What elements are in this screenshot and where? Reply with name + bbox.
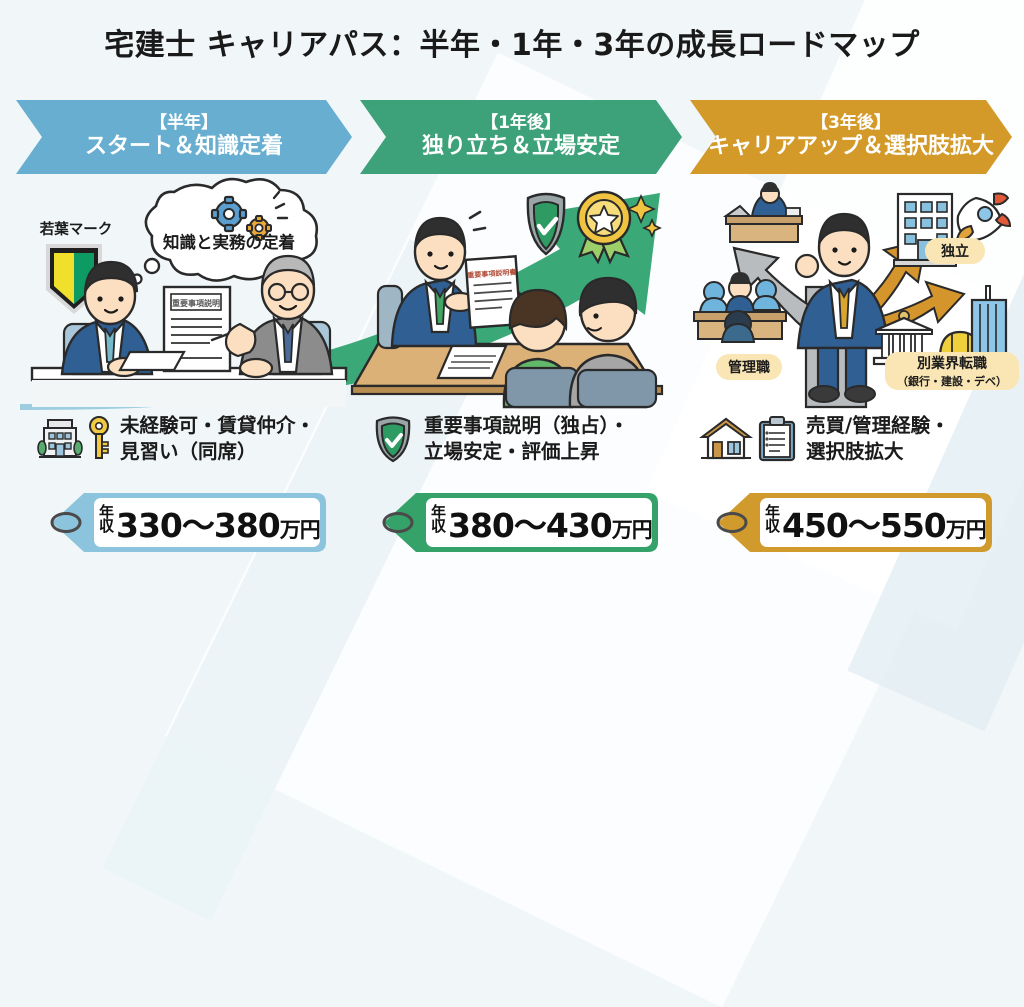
thought-bubble-text: 知識と実務の定着 [163,232,295,252]
sparkle-icon [628,196,660,236]
summary-three-year: 売買/管理経験・ 選択肢拡大 [700,400,1020,478]
salary-prefix: 年収 [764,504,779,542]
shield-check-icon [370,413,416,465]
manager-desk-icon [726,182,802,242]
salary-amount: 330〜380万円 [116,499,320,547]
path-label-text: 管理職 [728,357,770,377]
summary-line-1: 未経験可・賃貸仲介・ [120,413,315,439]
shield-check-icon [528,194,564,254]
manager-meeting-icon [694,272,786,342]
summary-text-three-year: 売買/管理経験・ 選択肢拡大 [806,413,950,464]
house-icon [700,414,752,464]
salary-text: 年収 380〜430万円 [430,491,652,554]
stage-header-three-year[interactable]: 【3年後】 キャリアアップ＆選択肢拡大 [690,100,1012,174]
stage-period-label: 【1年後】 [481,113,561,134]
salary-text: 年収 450〜550万円 [764,491,986,554]
infographic-canvas: 宅建士 キャリアパス：半年・1年・3年の成長ロードマップ 【半年】 スタート＆知… [0,0,1024,572]
path-label-manager: 管理職 [716,354,782,380]
salary-prefix: 年収 [430,504,445,542]
medal-award-icon [578,192,660,262]
rocket-icon [957,194,1010,241]
salary-tag-three-year: 年収 450〜550万円 [704,491,994,554]
office-building-icon [38,414,82,464]
salary-amount: 450〜550万円 [782,499,986,547]
stage-header-half-year[interactable]: 【半年】 スタート＆知識定着 [16,100,352,174]
summary-line-2: 選択肢拡大 [806,439,950,465]
path-sublabel-text: （銀行・建設・デベ） [897,373,1007,389]
summary-line-2: 立場安定・評価上昇 [424,439,629,465]
clipboard-icon [756,414,798,464]
salary-amount: 380〜430万円 [448,499,652,547]
beginner-mark-caption: 若葉マーク [39,220,113,238]
page-title: 宅建士 キャリアパス：半年・1年・3年の成長ロードマップ [0,20,1024,64]
summary-half-year: 未経験可・賃貸仲介・ 見習い（同席） [38,400,358,478]
path-label-text: 別業界転職 [917,353,987,373]
salary-text: 年収 330〜380万円 [98,491,320,554]
summary-icons-half-year [38,414,112,464]
summary-text-one-year: 重要事項説明（独占）・ 立場安定・評価上昇 [424,413,629,464]
summary-icons-three-year [700,414,798,464]
document-label: 重要事項説明 [172,298,220,308]
stage-period-label: 【3年後】 [811,113,891,134]
stage-period-label: 【半年】 [150,113,218,134]
key-icon [86,414,112,464]
client-man-figure [570,278,656,407]
salary-tag-half-year: 年収 330〜380万円 [38,491,328,554]
path-label-text: 独立 [941,241,969,261]
path-label-career-change: 別業界転職 （銀行・建設・デベ） [885,352,1019,390]
summary-line-1: 売買/管理経験・ [806,413,950,439]
summary-text-half-year: 未経験可・賃貸仲介・ 見習い（同席） [120,413,315,464]
summary-one-year: 重要事項説明（独占）・ 立場安定・評価上昇 [370,400,690,478]
illustration-half-year: 知識と実務の定着 若葉マーク [24,182,354,407]
stage-header-band: 【半年】 スタート＆知識定着 【1年後】 独り立ち＆立場安定 【3年後】 キャリ… [16,100,1012,174]
summary-icons-one-year [370,413,416,465]
salary-tag-one-year: 年収 380〜430万円 [370,491,660,554]
path-label-independent: 独立 [925,238,985,264]
stage-headline: 独り立ち＆立場安定 [422,134,620,161]
stage-headline: スタート＆知識定着 [85,134,283,161]
stage-headline: キャリアアップ＆選択肢拡大 [708,134,994,161]
stage-header-one-year[interactable]: 【1年後】 独り立ち＆立場安定 [360,100,682,174]
salary-prefix: 年収 [98,504,113,542]
summary-line-1: 重要事項説明（独占）・ [424,413,629,439]
illustration-one-year: 重要事項説明書 [356,182,686,407]
summary-line-2: 見習い（同席） [120,439,315,465]
